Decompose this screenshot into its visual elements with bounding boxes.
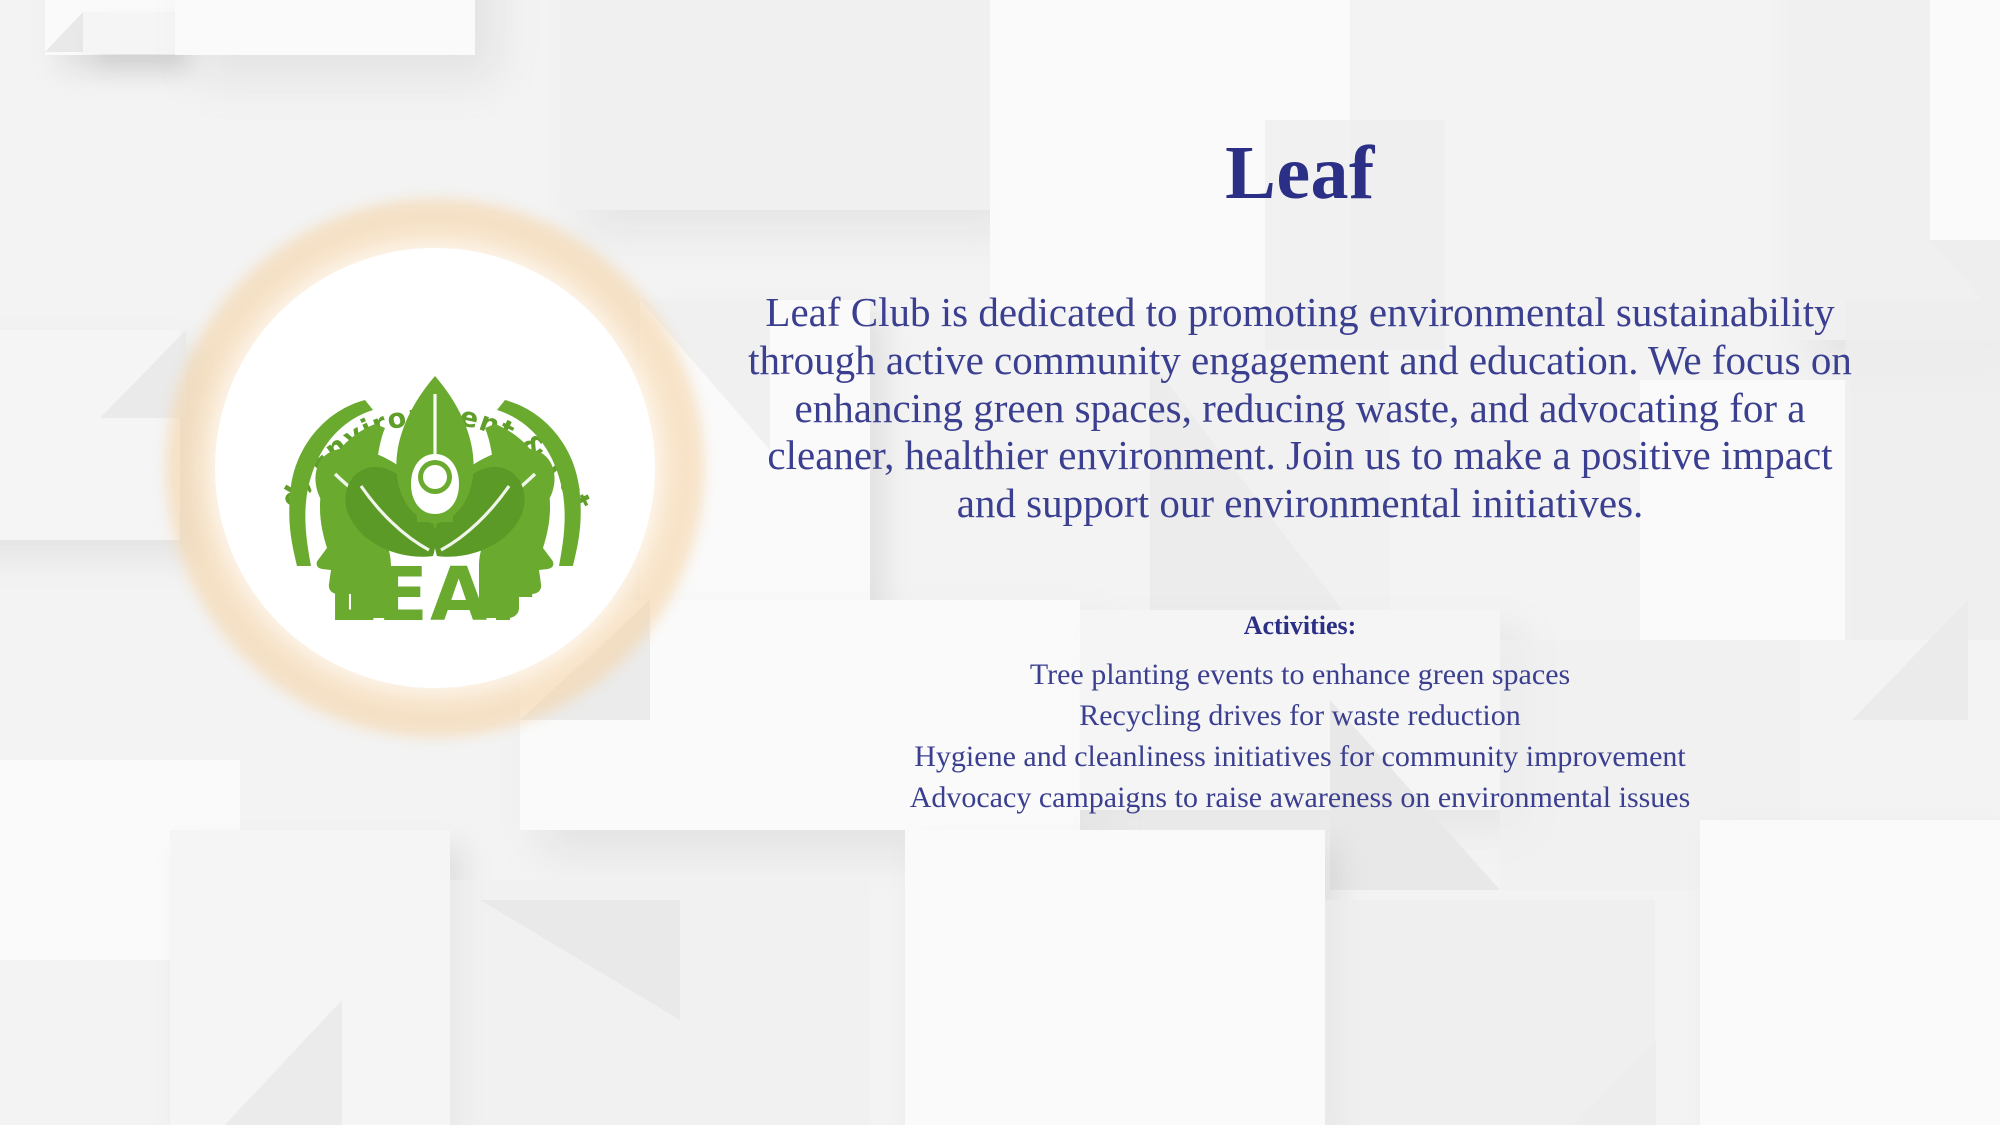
activities-section: Activities: Tree planting events to enha… [720, 606, 1880, 819]
activity-item: Advocacy campaigns to raise awareness on… [720, 777, 1880, 818]
bg-shape [45, 12, 83, 52]
bg-shape [480, 900, 680, 1020]
bg-shape [0, 330, 180, 540]
bg-shape [222, 1000, 342, 1125]
logo-wordmark: LEAF [328, 552, 542, 638]
logo-white-disc: Land, Environment & Future [215, 248, 655, 688]
content-column: Leaf Leaf Club is dedicated to promoting… [720, 0, 1880, 1125]
bg-shape [0, 760, 240, 960]
activity-item: Hygiene and cleanliness initiatives for … [720, 736, 1880, 777]
club-logo: Land, Environment & Future [165, 198, 705, 738]
activity-item: Tree planting events to enhance green sp… [720, 654, 1880, 695]
activity-item: Recycling drives for waste reduction [720, 695, 1880, 736]
slide-canvas: Land, Environment & Future [0, 0, 2000, 1125]
bg-shape [45, 0, 175, 55]
bg-shape [175, 0, 475, 55]
logo-artwork: Land, Environment & Future [215, 248, 655, 688]
bg-shape [1930, 240, 2000, 320]
bg-shape [1930, 0, 2000, 240]
page-title: Leaf [720, 135, 1880, 211]
activities-heading: Activities: [720, 606, 1880, 646]
bg-shape [83, 12, 175, 54]
bg-shape [170, 830, 450, 1125]
about-paragraph: Leaf Club is dedicated to promoting envi… [720, 289, 1880, 528]
